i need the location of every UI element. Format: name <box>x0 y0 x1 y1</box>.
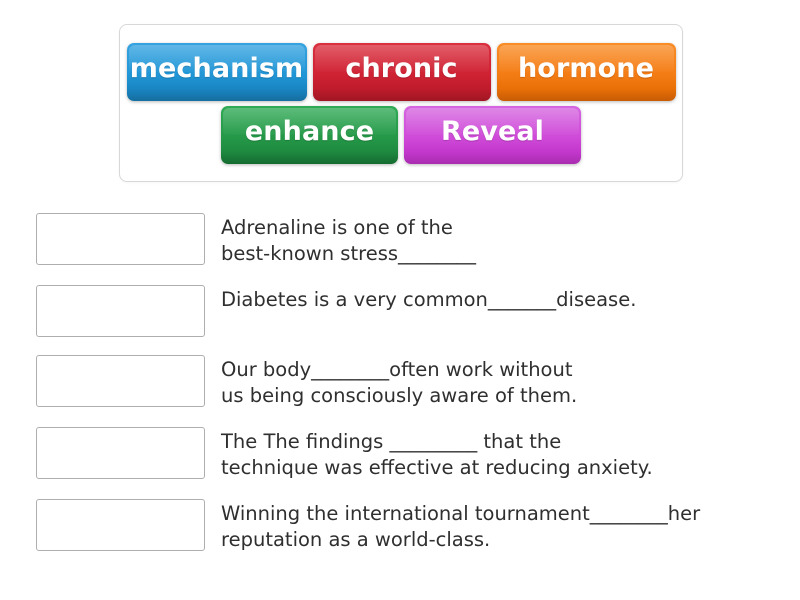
answer-drop-box-3[interactable] <box>36 355 205 407</box>
word-tile-label: mechanism <box>130 53 303 84</box>
question-row: Adrenaline is one of the best-known stre… <box>36 213 776 267</box>
question-text-1: Adrenaline is one of the best-known stre… <box>221 213 776 267</box>
word-tile-label: chronic <box>345 53 457 84</box>
answer-drop-box-1[interactable] <box>36 213 205 265</box>
word-bank-row-1: mechanism chronic hormone <box>124 41 679 103</box>
word-tile-hormone[interactable]: hormone <box>497 43 676 101</box>
word-tile-label: Reveal <box>441 116 544 147</box>
question-text-2: Diabetes is a very common_______disease. <box>221 285 776 313</box>
question-row: Winning the international tournament____… <box>36 499 776 553</box>
question-row: Diabetes is a very common_______disease. <box>36 285 776 337</box>
word-tile-label: hormone <box>518 53 654 84</box>
word-tile-chronic[interactable]: chronic <box>313 43 491 101</box>
question-row: The The findings _________ that the tech… <box>36 427 776 481</box>
answer-drop-box-2[interactable] <box>36 285 205 337</box>
question-list: Adrenaline is one of the best-known stre… <box>36 213 776 571</box>
question-text-5: Winning the international tournament____… <box>221 499 776 553</box>
word-bank-panel: mechanism chronic hormone enhance Reveal <box>119 24 683 182</box>
word-tile-mechanism[interactable]: mechanism <box>127 43 307 101</box>
question-row: Our body________often work without us be… <box>36 355 776 409</box>
answer-drop-box-4[interactable] <box>36 427 205 479</box>
question-text-4: The The findings _________ that the tech… <box>221 427 776 481</box>
word-bank-row-2: enhance Reveal <box>218 104 584 166</box>
word-tile-enhance[interactable]: enhance <box>221 106 398 164</box>
question-text-3: Our body________often work without us be… <box>221 355 776 409</box>
word-tile-label: enhance <box>245 116 374 147</box>
word-tile-reveal[interactable]: Reveal <box>404 106 581 164</box>
answer-drop-box-5[interactable] <box>36 499 205 551</box>
